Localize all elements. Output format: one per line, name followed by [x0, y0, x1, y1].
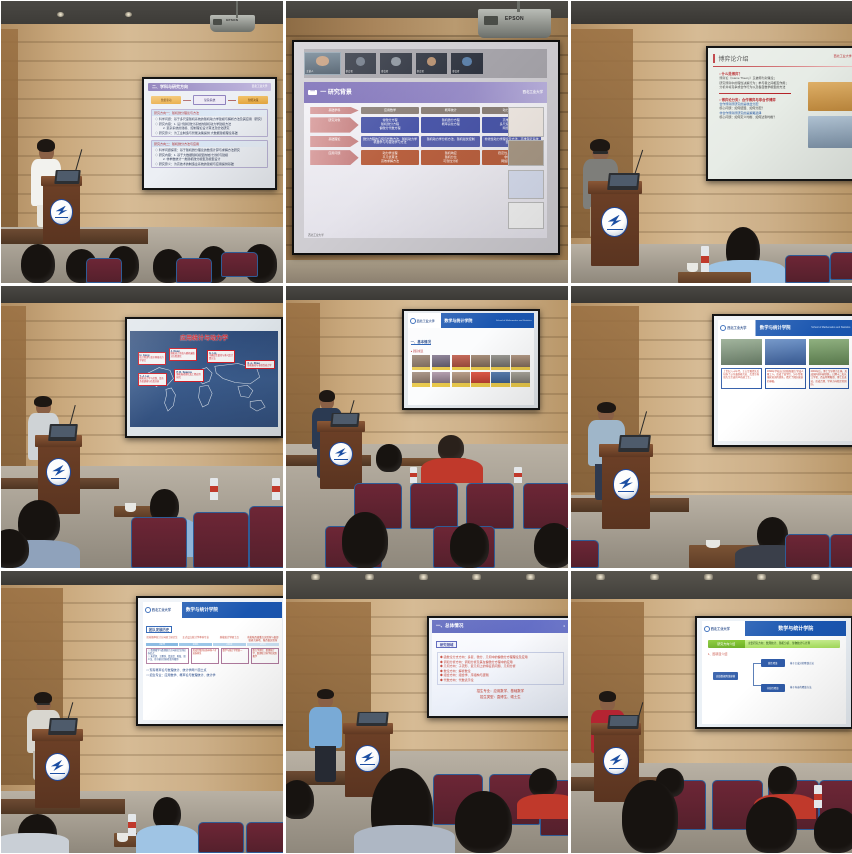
- slide-title: 一、总体情况: [436, 624, 464, 629]
- college-name: 数学与统计学院: [756, 325, 791, 331]
- college-name: 数学与统计学院: [440, 318, 472, 324]
- video-tile-label: 参会者: [381, 69, 388, 73]
- slide-section-title: 团队发展历史: [146, 626, 172, 633]
- ceiling-light: [526, 574, 535, 580]
- matrix-cell: 随机动力学分析方法、随机最优控制: [421, 136, 480, 148]
- slide-content: 二、学科与研究方向 西北工业大学 数据驱动 复杂系统 智能决策 研究方向一：随机…: [144, 79, 275, 188]
- flow-connector: [753, 685, 761, 686]
- slide-footnote: 招生类型：直博生、硕士生: [432, 695, 568, 701]
- speaker-hair: [317, 689, 335, 700]
- flow-connector: [753, 663, 761, 664]
- flow-node-child: 线性降维: [761, 659, 785, 667]
- timeline-year: 1978: [146, 643, 179, 646]
- audience-shoulders: [136, 825, 198, 853]
- eyeglasses-icon: [37, 703, 51, 706]
- slide-flow-diagram: 数据驱动 复杂系统 智能决策: [151, 95, 268, 105]
- timeline-label: 获批陕西省重点实验室与省部级研究基地、陕西省实验室: [247, 636, 280, 642]
- map-callout: G. Lin 不确定性量化与多尺度计算方法: [207, 350, 235, 363]
- flow-node: 数据驱动: [151, 96, 181, 104]
- lecture-hall-scene-8: 一、总体情况 4 研究领域 ◆ 函数论分支方向：多复、微分、几何中的偏微分方程理…: [286, 571, 568, 853]
- banner-text: 主要研究方向：数理统计、随机分析、生物统计与计算: [745, 640, 841, 648]
- desk: [678, 272, 751, 283]
- audience-head: [342, 512, 387, 568]
- faculty-portrait: [471, 355, 489, 370]
- projector-mount: [236, 1, 238, 18]
- university-emblem-icon: [704, 626, 710, 632]
- slide-content: 博弈论介绍 西北工业大学 • 什么是博弈？ 博弈论（Game Theory）又被…: [708, 48, 852, 179]
- university-logo: 西北工业大学: [702, 626, 745, 632]
- slide-subsection: 研究领域: [436, 641, 458, 648]
- flow-node-child: 非线性降维: [761, 684, 785, 692]
- laptop[interactable]: [330, 413, 360, 427]
- audience-head: [768, 766, 796, 797]
- flow-node: 复杂系统: [193, 95, 225, 105]
- lecture-hall-scene-2: EPSON 主讲人 参会者: [286, 1, 568, 283]
- figure-thumbnail: [508, 107, 544, 137]
- title-divider: [713, 66, 851, 67]
- faculty-portrait: [432, 355, 450, 370]
- history-photo: [721, 339, 762, 365]
- slide-title-number: 一: [308, 90, 317, 95]
- university-emblem-icon: [603, 747, 628, 775]
- seat[interactable]: [830, 252, 852, 280]
- photo-cell-5[interactable]: 西北工业大学 数学与统计学院 School of Mathematics and…: [286, 286, 568, 568]
- college-name: 数学与统计学院: [182, 607, 218, 613]
- speaker-hair: [37, 139, 55, 152]
- podium-5[interactable]: [320, 421, 362, 489]
- ceiling-light: [472, 574, 481, 580]
- audience-head: [622, 780, 678, 853]
- slide-title: 博弈论介绍: [713, 54, 748, 63]
- matrix-row: 研究对象 常微分方程 随机微分方程 偏微分代数方程 随机微分方程 概率演化方程 …: [310, 117, 541, 132]
- map-callout: H. Gang 统计物理与复杂网络动力学研究: [138, 352, 166, 365]
- slide-content: 西北工业大学 数学与统计学院 School of Mathematics and…: [408, 313, 534, 405]
- ceiling-light: [365, 574, 374, 580]
- figure-thumbnail: [508, 140, 544, 166]
- video-tile-self[interactable]: 主讲人: [304, 52, 340, 75]
- audience-head: [534, 523, 568, 568]
- wall-panel: [1, 306, 26, 481]
- ceiling-light: [419, 574, 428, 580]
- college-name: 数学与统计学院: [778, 625, 813, 632]
- faculty-portrait: [491, 355, 509, 370]
- timeline-labels: 招收概率统计方向硕士研究生 正式设立统计学本科专业 获批统计学硕士点 获批陕西省…: [143, 636, 282, 642]
- video-avatar: [462, 57, 471, 66]
- slide-bullet: ◆ 代数方向：代数表示论: [440, 678, 561, 683]
- water-bottle: [128, 814, 136, 837]
- video-avatar: [356, 57, 365, 66]
- slide-image-handshake: [808, 116, 852, 148]
- projection-screen-5: 西北工业大学 数学与统计学院 School of Mathematics and…: [402, 309, 540, 411]
- map-callout: J. Duan 随机动力系统与随机偏微分方程理论: [169, 348, 197, 361]
- slide-header-university: 西北工业大学: [834, 54, 852, 58]
- callout-text: 统计物理与复杂网络动力学研究: [140, 357, 164, 363]
- slide-header: 博弈论介绍 西北工业大学: [713, 54, 851, 63]
- matrix-cell: 动力学过程 平几优算法 高效求解方法: [361, 150, 420, 165]
- matrix-row: 应用问题 动力学过程 平几优算法 高效求解方法 随机响应 随机分岔 可靠性分析 …: [310, 150, 541, 165]
- slide-title: 二、学科与研究方向: [152, 85, 188, 89]
- university-emblem-icon: [613, 469, 640, 499]
- slide-title-bar: 一 一 研究背景 西北工业大学: [304, 82, 547, 102]
- faculty-portrait: [432, 372, 450, 387]
- water-bottle: [272, 478, 280, 501]
- photo-cell-2[interactable]: EPSON 主讲人 参会者: [286, 1, 568, 283]
- seat[interactable]: [198, 822, 243, 853]
- video-tile-label: 参会者: [346, 69, 353, 73]
- flow-node: 智能决策: [238, 96, 268, 104]
- seat[interactable]: [410, 483, 458, 528]
- seat[interactable]: [221, 252, 258, 277]
- seat[interactable]: [523, 483, 568, 528]
- slide-surface: 博弈论介绍 西北工业大学 • 什么是博弈？ 博弈论（Game Theory）又被…: [708, 48, 852, 179]
- slide-header: 西北工业大学 数学与统计学院 School of Mathematics and…: [718, 320, 852, 336]
- audience-head: [814, 808, 852, 853]
- audience-head: [21, 244, 55, 283]
- slide-content: 一 一 研究背景 西北工业大学 基础学科 应用数学 概率统计 动力学与控制: [304, 82, 547, 238]
- callout-text: 随机动力系统与随机偏微分方程理论: [171, 353, 195, 359]
- timeline-year: 2001: [179, 643, 212, 646]
- photo-collage: EPSON 二、学科与研究方向 西北工业大学 数据驱动 复杂系统: [0, 0, 852, 854]
- projection-screen-4: 应用统计与动力学: [125, 317, 283, 438]
- projector-mount: [517, 1, 520, 12]
- slide-footer: 西北工业大学: [308, 233, 324, 237]
- slide-surface: 西北工业大学 数学与统计学院 School of Mathematics and…: [404, 311, 538, 409]
- slide-header: 西北工业大学 数学与统计学院: [702, 621, 847, 635]
- water-bottle: [814, 785, 822, 808]
- audience-shoulders: [421, 458, 483, 483]
- slide-numbered-item: 1、国项目介绍: [702, 652, 847, 656]
- tea-cup: [125, 503, 136, 511]
- callout-text: 随机振动与非线性动力学: [247, 365, 273, 368]
- video-conference-bar: 主讲人 参会者 参会者 参会者: [304, 49, 547, 78]
- map-callout: X.-L. Zhao 随机振动与非线性动力学: [245, 360, 275, 370]
- slide-surface: 二、学科与研究方向 西北工业大学 数据驱动 复杂系统 智能决策 研究方向一：随机…: [144, 79, 275, 188]
- slide-surface: 西北工业大学 数学与统计学院 研究方向介绍 主要研究方向：数理统计、随机分析、生…: [697, 618, 851, 727]
- slide-section-title: 一、基本情况: [411, 339, 431, 345]
- slide-page-number: 4: [563, 625, 565, 628]
- tea-cup: [706, 540, 720, 548]
- university-emblem-icon: [720, 325, 726, 331]
- university-name: 西北工业大学: [152, 607, 171, 612]
- audience-shoulders: [517, 794, 568, 819]
- audience-shoulders: [354, 825, 456, 853]
- seat[interactable]: [249, 506, 283, 568]
- university-emblem-icon: [355, 745, 380, 771]
- laptop[interactable]: [48, 718, 78, 735]
- map-callout: P. D. Spanos 随机振动理论及工程应用研究: [174, 369, 204, 382]
- figure-thumbnail: [508, 170, 544, 200]
- water-bottle: [210, 478, 218, 501]
- slide-header-university: 西北工业大学: [252, 86, 268, 89]
- map-callout: Y.-J. Lei 随机动力学与控制、复杂系统建模与仿真分析: [138, 373, 168, 386]
- slide-surface: 西北工业大学 数学与统计学院 School of Mathematics and…: [714, 316, 852, 445]
- projector-brand-label: EPSON: [210, 19, 255, 22]
- seat[interactable]: [246, 822, 283, 853]
- projector: EPSON: [478, 9, 551, 37]
- university-emblem-icon: [145, 607, 151, 613]
- university-name: 西北工业大学: [727, 325, 746, 330]
- section-line: ◇ 研究意义：为工业制造与智能决策提供 大数据建模理论基础: [155, 131, 264, 136]
- slide-title-bar: 二、学科与研究方向 西北工业大学: [148, 83, 271, 91]
- seat[interactable]: [86, 258, 123, 283]
- lecture-hall-scene-7: 西北工业大学 数学与统计学院 团队发展历史 招收概率统计方向硕士研究生 正式设立…: [1, 571, 283, 853]
- podium-6[interactable]: [602, 444, 650, 529]
- laptop[interactable]: [356, 712, 388, 726]
- matrix-cell: 应用数学: [361, 107, 420, 115]
- projection-screen-3: 博弈论介绍 西北工业大学 • 什么是博弈？ 博弈论（Game Theory）又被…: [706, 46, 852, 181]
- ceiling-light: [650, 574, 659, 580]
- university-emblem-icon: [601, 207, 628, 237]
- section-divider: [719, 93, 791, 94]
- matrix-cell: 随机微分方程 概率演化方程: [421, 117, 480, 132]
- tea-cup: [687, 263, 698, 271]
- slide-header: 西北工业大学 数学与统计学院 School of Mathematics and…: [408, 313, 534, 328]
- seat[interactable]: [785, 534, 830, 568]
- university-emblem-icon: [329, 442, 353, 466]
- slide-section-2: 研究方向二：随机微分方法与应用 ◇ 科学问题探索：基于随机微分理论的数值计算与求…: [151, 140, 268, 168]
- timeline-notes: ◇ 数理教学与数理统计方向研究生的培养起点； ◇ 朱荣超、王鹏跃、葛连昆、陈俊、…: [143, 647, 282, 665]
- laptop[interactable]: [607, 715, 639, 729]
- history-column: 上世纪八十年代，王占军教授先后培养了以冯谦副研究员、杰青许天周先生次弟的14名硕…: [721, 368, 762, 389]
- slide-header: 西北工业大学 数学与统计学院: [143, 602, 282, 617]
- faculty-photo-grid: [408, 353, 534, 389]
- faculty-portrait: [412, 372, 430, 387]
- slide-surface: 应用统计与动力学: [127, 319, 281, 436]
- flow-arrow: [183, 100, 191, 101]
- water-bottle: [701, 246, 709, 271]
- callout-text: 随机振动理论及工程应用研究: [176, 374, 202, 380]
- history-column: 2001年后，博士生导师为主体，形成国内外科研团队，已聘十二名长江学者、西安特聘…: [809, 368, 850, 389]
- matrix-cell: 常微分方程 随机微分方程 偏微分代数方程: [361, 117, 420, 132]
- laptop[interactable]: [618, 435, 651, 452]
- ceiling-light: [596, 574, 605, 580]
- lecture-hall-scene-4: 应用统计与动力学: [1, 286, 283, 568]
- university-emblem-icon: [50, 199, 73, 225]
- timeline-year: 2019: [247, 643, 280, 646]
- matrix-cell: 随机响应 随机分岔 可靠性分析: [421, 150, 480, 165]
- seat[interactable]: [466, 483, 514, 528]
- faculty-portrait: [452, 355, 470, 370]
- row-label: 研究对象: [310, 117, 358, 132]
- timeline-label: 招收概率统计方向硕士研究生: [146, 636, 179, 642]
- faculty-portrait: [452, 372, 470, 387]
- podium-1[interactable]: [43, 176, 80, 244]
- projection-screen-7: 西北工业大学 数学与统计学院 团队发展历史 招收概率统计方向硕士研究生 正式设立…: [136, 596, 283, 726]
- faculty-portrait: [511, 372, 529, 387]
- photo-cell-4[interactable]: 应用统计与动力学: [1, 286, 283, 568]
- seat[interactable]: [571, 540, 599, 568]
- speaker-hair: [599, 691, 617, 702]
- slide-content: 西北工业大学 数学与统计学院 团队发展历史 招收概率统计方向硕士研究生 正式设立…: [143, 602, 282, 720]
- callout-text: 不确定性量化与多尺度计算方法: [209, 355, 233, 361]
- callout-text: 随机动力学与控制、复杂系统建模与仿真分析: [140, 378, 166, 384]
- bullet-line: 核心问题：如何定义均衡、如何达到均衡？: [719, 115, 799, 120]
- speaker-hair: [34, 396, 52, 407]
- seat[interactable]: [830, 534, 852, 568]
- speaker-hair: [319, 390, 335, 402]
- ceiling-light: [757, 574, 766, 580]
- slide-content: 西北工业大学 数学与统计学院 School of Mathematics and…: [718, 320, 852, 441]
- speaker-hair: [597, 402, 616, 414]
- slide-header-university: 西北工业大学: [523, 91, 543, 94]
- slide-bullet-list: ◆ 函数论分支方向：多复、微分、几何中的偏微分方程理论及应用 ◆ 调和分析方向：…: [437, 652, 564, 685]
- row-label: 应用问题: [310, 150, 358, 165]
- slide-content: 应用统计与动力学: [130, 331, 278, 427]
- history-text-row: 上世纪八十年代，王占军教授先后培养了以冯谦副研究员、杰青许天周先生次弟的14名硕…: [718, 368, 852, 389]
- faculty-portrait: [412, 355, 430, 370]
- video-tile-label: 参会者: [452, 69, 459, 73]
- video-tile-label: 参会者: [417, 69, 424, 73]
- slide-content: 一、总体情况 4 研究领域 ◆ 函数论分支方向：多复、微分、几何中的偏微分方程理…: [432, 620, 568, 714]
- matrix-row: 基础学科 应用数学 概率统计 动力学与控制: [310, 107, 541, 115]
- lecture-hall-scene-6: 西北工业大学 数学与统计学院 School of Mathematics and…: [571, 286, 852, 568]
- matrix-row: 基础理论 微分方程的几何与代数方法、随机动力学机器学习与强化学习方法 随机动力学…: [310, 136, 541, 148]
- slide-title-bar: 一、总体情况 4: [432, 620, 568, 633]
- photo-cell-1[interactable]: EPSON 二、学科与研究方向 西北工业大学 数据驱动 复杂系统: [1, 1, 283, 283]
- section-line: ◇ 科学问题：基于多尺度随机系统的随机动力学建模与解析方法及其应用（研究）: [155, 117, 264, 122]
- podium-7[interactable]: [35, 729, 80, 808]
- speaker-torso: [309, 707, 343, 749]
- section-line: ◇ 研究意义：为高技术的制造业系统的建模与应用提供基础: [155, 162, 264, 167]
- research-direction-banner: 研究方向介绍 主要研究方向：数理统计、随机分析、生物统计与计算: [708, 640, 841, 648]
- university-name: 西北工业大学: [417, 319, 435, 323]
- university-name: 西北工业大学: [711, 626, 730, 631]
- projector: EPSON: [210, 15, 255, 32]
- university-logo: 西北工业大学: [408, 318, 441, 324]
- audience-head: [455, 791, 511, 853]
- audience-head: [438, 435, 463, 460]
- faculty-portrait: [511, 355, 529, 370]
- row-label: 基础学科: [310, 107, 358, 115]
- audience-head: [529, 768, 557, 796]
- speaker-hair: [34, 692, 52, 704]
- faculty-portrait: [491, 372, 509, 387]
- projection-screen-8: 一、总体情况 4 研究领域 ◆ 函数论分支方向：多复、微分、几何中的偏微分方程理…: [427, 616, 568, 718]
- lecture-hall-scene-1: EPSON 二、学科与研究方向 西北工业大学 数据驱动 复杂系统: [1, 1, 283, 283]
- video-tile[interactable]: 参会者: [451, 53, 483, 74]
- projection-screen-2: 主讲人 参会者 参会者 参会者: [292, 40, 560, 254]
- video-avatar: [427, 57, 436, 66]
- slide-title: 应用统计与动力学: [130, 331, 278, 342]
- audience-shoulders: [1, 833, 69, 853]
- timeline-note: 形成完整的培养本科人才培养体系: [191, 648, 220, 664]
- laptop[interactable]: [48, 424, 78, 441]
- video-tile[interactable]: 参会者: [345, 53, 377, 74]
- slide-image-chess: [808, 82, 852, 111]
- photo-cell-8[interactable]: 一、总体情况 4 研究领域 ◆ 函数论分支方向：多复、微分、几何中的偏微分方程理…: [286, 571, 568, 853]
- speaker-hair: [590, 139, 610, 151]
- video-avatar: [391, 57, 400, 66]
- slide-surface: 一、总体情况 4 研究领域 ◆ 函数论分支方向：多复、微分、几何中的偏微分方程理…: [429, 618, 568, 716]
- seat[interactable]: [131, 517, 187, 568]
- lecture-hall-scene-5: 西北工业大学 数学与统计学院 School of Mathematics and…: [286, 286, 568, 568]
- slide-content: 西北工业大学 数学与统计学院 研究方向介绍 主要研究方向：数理统计、随机分析、生…: [702, 621, 847, 723]
- seat[interactable]: [193, 512, 249, 568]
- ceiling-light: [704, 574, 713, 580]
- flow-node-desc: 基于内容的降维方法: [790, 685, 812, 689]
- figure-thumbnail: [508, 202, 544, 228]
- matrix-cell: 微分方程的几何与代数方法、随机动力学机器学习与强化学习方法: [361, 136, 420, 148]
- lecture-hall-scene-9: 西北工业大学 数学与统计学院 研究方向介绍 主要研究方向：数理统计、随机分析、生…: [571, 571, 852, 853]
- bullet-line: 分析并将竞争或合作行为以及各自数学模型的方法: [719, 85, 799, 90]
- audience-head: [746, 797, 797, 853]
- history-photo: [809, 339, 850, 365]
- tea-cup: [117, 833, 128, 841]
- video-tile[interactable]: 参会者: [416, 53, 448, 74]
- slide-surface: 主讲人 参会者 参会者 参会者: [294, 42, 558, 252]
- speaker-8: [309, 692, 343, 782]
- projector-brand-label: EPSON: [478, 17, 551, 22]
- faculty-portrait: [471, 372, 489, 387]
- projection-screen-9: 西北工业大学 数学与统计学院 研究方向介绍 主要研究方向：数理统计、随机分析、生…: [695, 616, 852, 729]
- university-emblem-icon: [46, 458, 71, 486]
- photo-cell-6[interactable]: 西北工业大学 数学与统计学院 School of Mathematics and…: [571, 286, 852, 568]
- college-name-en: School of Mathematics and Statistics: [811, 326, 852, 329]
- slide-bullet: □ 招生专业：应用数学、概率论与数理统计、统计学: [147, 673, 278, 678]
- college-name-en: School of Mathematics and Statistics: [496, 320, 534, 322]
- university-emblem-icon: [410, 318, 416, 324]
- photo-cell-3[interactable]: 博弈论介绍 西北工业大学 • 什么是博弈？ 博弈论（Game Theory）又被…: [571, 1, 852, 283]
- timeline-label: 获批统计学硕士点: [213, 636, 246, 642]
- university-logo: 西北工业大学: [718, 325, 756, 331]
- photo-cell-7[interactable]: 西北工业大学 数学与统计学院 团队发展历史 招收概率统计方向硕士研究生 正式设立…: [1, 571, 283, 853]
- seat[interactable]: [785, 255, 830, 283]
- flow-node-desc: 基于主成分的降维方法: [790, 661, 814, 665]
- eyeglasses-icon: [593, 151, 608, 154]
- university-logo: 西北工业大学: [143, 607, 182, 613]
- flowchart: 高维数据降维建模 线性降维 非线性降维 基于主成分的降维方法 基于内容的降维方法: [708, 658, 841, 699]
- slide-title: 一 研究背景: [320, 90, 352, 96]
- seat[interactable]: [176, 258, 213, 283]
- timeline-note: ◇ 数理教学与数理统计方向研究生的培养起点； ◇ 朱荣超、王鹏跃、葛连昆、陈俊、…: [146, 648, 189, 664]
- video-tile[interactable]: 参会者: [380, 53, 412, 74]
- projection-screen-6: 西北工业大学 数学与统计学院 School of Mathematics and…: [712, 314, 852, 447]
- speaker-legs: [315, 746, 335, 782]
- lecture-hall-scene-3: 博弈论介绍 西北工业大学 • 什么是博弈？ 博弈论（Game Theory）又被…: [571, 1, 852, 283]
- flow-connector: [753, 663, 754, 686]
- audience-head: [376, 444, 401, 472]
- wall-panel: [1, 29, 18, 238]
- photo-cell-9[interactable]: 西北工业大学 数学与统计学院 研究方向介绍 主要研究方向：数理统计、随机分析、生…: [571, 571, 852, 853]
- history-column: 1994年学校自主招收新疆大学成人教工人，形成了高学历、分小型和强化培训的团队，…: [765, 368, 806, 389]
- podium-3[interactable]: [591, 181, 639, 266]
- projection-screen-1: 二、学科与研究方向 西北工业大学 数据驱动 复杂系统 智能决策 研究方向一：随机…: [142, 77, 277, 190]
- ceiling-light: [311, 574, 320, 580]
- row-label: 基础理论: [310, 136, 358, 148]
- timeline-year: 2010: [213, 643, 246, 646]
- flow-node-root: 高维数据降维建模: [713, 672, 738, 680]
- water-bottle: [410, 467, 417, 484]
- video-tile-label: 主讲人: [306, 69, 313, 73]
- history-photo-row: [718, 336, 852, 368]
- timeline-note: 数学与统计学院统一: [221, 648, 250, 664]
- timeline-label: 正式设立统计学本科专业: [179, 636, 212, 642]
- matrix-cell: 概率统计: [421, 107, 480, 115]
- slide-surface: 西北工业大学 数学与统计学院 团队发展历史 招收概率统计方向硕士研究生 正式设立…: [138, 598, 283, 724]
- laptop[interactable]: [607, 173, 640, 190]
- audience-head: [450, 523, 489, 568]
- history-photo: [765, 339, 806, 365]
- video-avatar: [316, 56, 328, 66]
- laptop[interactable]: [54, 170, 81, 184]
- floor: [286, 260, 568, 283]
- university-emblem-icon: [45, 753, 70, 781]
- timeline-note: 数力学理论、数理统计学、数理统计科学和实践教学: [251, 648, 280, 664]
- ceiling-light: [811, 574, 820, 580]
- water-bottle: [514, 467, 521, 484]
- slide-section-1: 研究方向一：随机微分理论与方法 ◇ 科学问题：基于多尺度随机系统的随机动力学建模…: [151, 109, 268, 137]
- banner-label: 研究方向介绍: [708, 640, 745, 648]
